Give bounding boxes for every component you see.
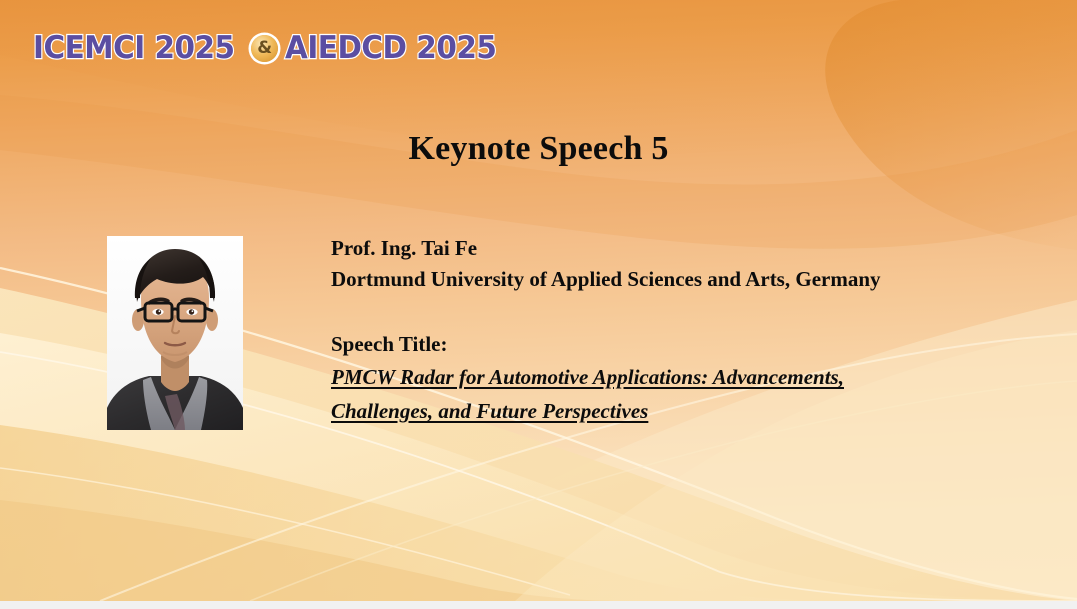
speaker-info-block: Prof. Ing. Tai Fe Dortmund University of… xyxy=(331,233,1061,428)
ampersand-badge-icon: & xyxy=(251,35,278,62)
speech-title-line-1: PMCW Radar for Automotive Applications: … xyxy=(331,360,1061,394)
spacer xyxy=(331,295,1061,329)
logo-text-icemci: ICEMCI 2025 xyxy=(33,33,235,64)
conference-logo: ICEMCI 2025 & AIEDCD 2025 xyxy=(33,29,508,67)
speech-title-line-2: Challenges, and Future Perspectives xyxy=(331,394,1061,428)
speaker-affiliation: Dortmund University of Applied Sciences … xyxy=(331,264,1061,295)
page-title: Keynote Speech 5 xyxy=(0,130,1077,168)
slide-bottom-border xyxy=(0,601,1077,609)
speaker-photo xyxy=(107,236,243,430)
speaker-name: Prof. Ing. Tai Fe xyxy=(331,233,1061,264)
speech-title-label: Speech Title: xyxy=(331,329,1061,360)
ampersand-glyph: & xyxy=(257,40,272,57)
keynote-slide: ICEMCI 2025 & AIEDCD 2025 Keynote Speech… xyxy=(0,0,1077,609)
logo-text-aiedcd: AIEDCD 2025 xyxy=(285,33,496,64)
